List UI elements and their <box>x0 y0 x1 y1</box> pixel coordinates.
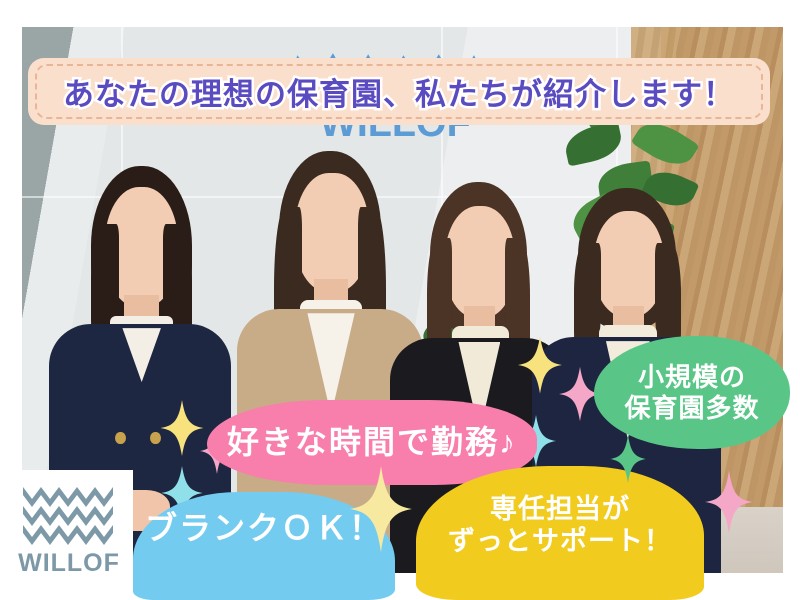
sparkle-pink-right <box>705 470 753 534</box>
sparkle-yellow-mid <box>350 466 412 552</box>
blob-yellow: 専任担当が ずっとサポート！ <box>416 466 704 600</box>
sparkle-yellow-left <box>160 400 204 456</box>
blob-pink-line1: 好きな時間で勤務♪ <box>227 424 517 462</box>
blob-yellow-line2: ずっとサポート！ <box>448 526 672 558</box>
blob-yellow-line1: 専任担当が <box>448 494 672 526</box>
blob-green-line1: 小規模の <box>624 362 759 393</box>
willof-logo-card: WILLOF <box>5 470 133 590</box>
poster-canvas: WILLOF <box>0 0 800 600</box>
blob-blue-line1: ブランクＯＫ！ <box>145 510 383 548</box>
headline-text: あなたの理想の保育園、私たちが紹介します！ <box>63 69 735 114</box>
sparkle-green-yellow <box>610 435 646 483</box>
sparkle-yellow-upper <box>518 336 562 394</box>
zigzag-wave-icon <box>23 483 115 545</box>
blob-green: 小規模の 保育園多数 <box>594 336 790 449</box>
willof-wordmark: WILLOF <box>18 549 120 578</box>
headline-banner: あなたの理想の保育園、私たちが紹介します！ <box>28 58 770 125</box>
blob-green-line2: 保育園多数 <box>624 393 759 424</box>
